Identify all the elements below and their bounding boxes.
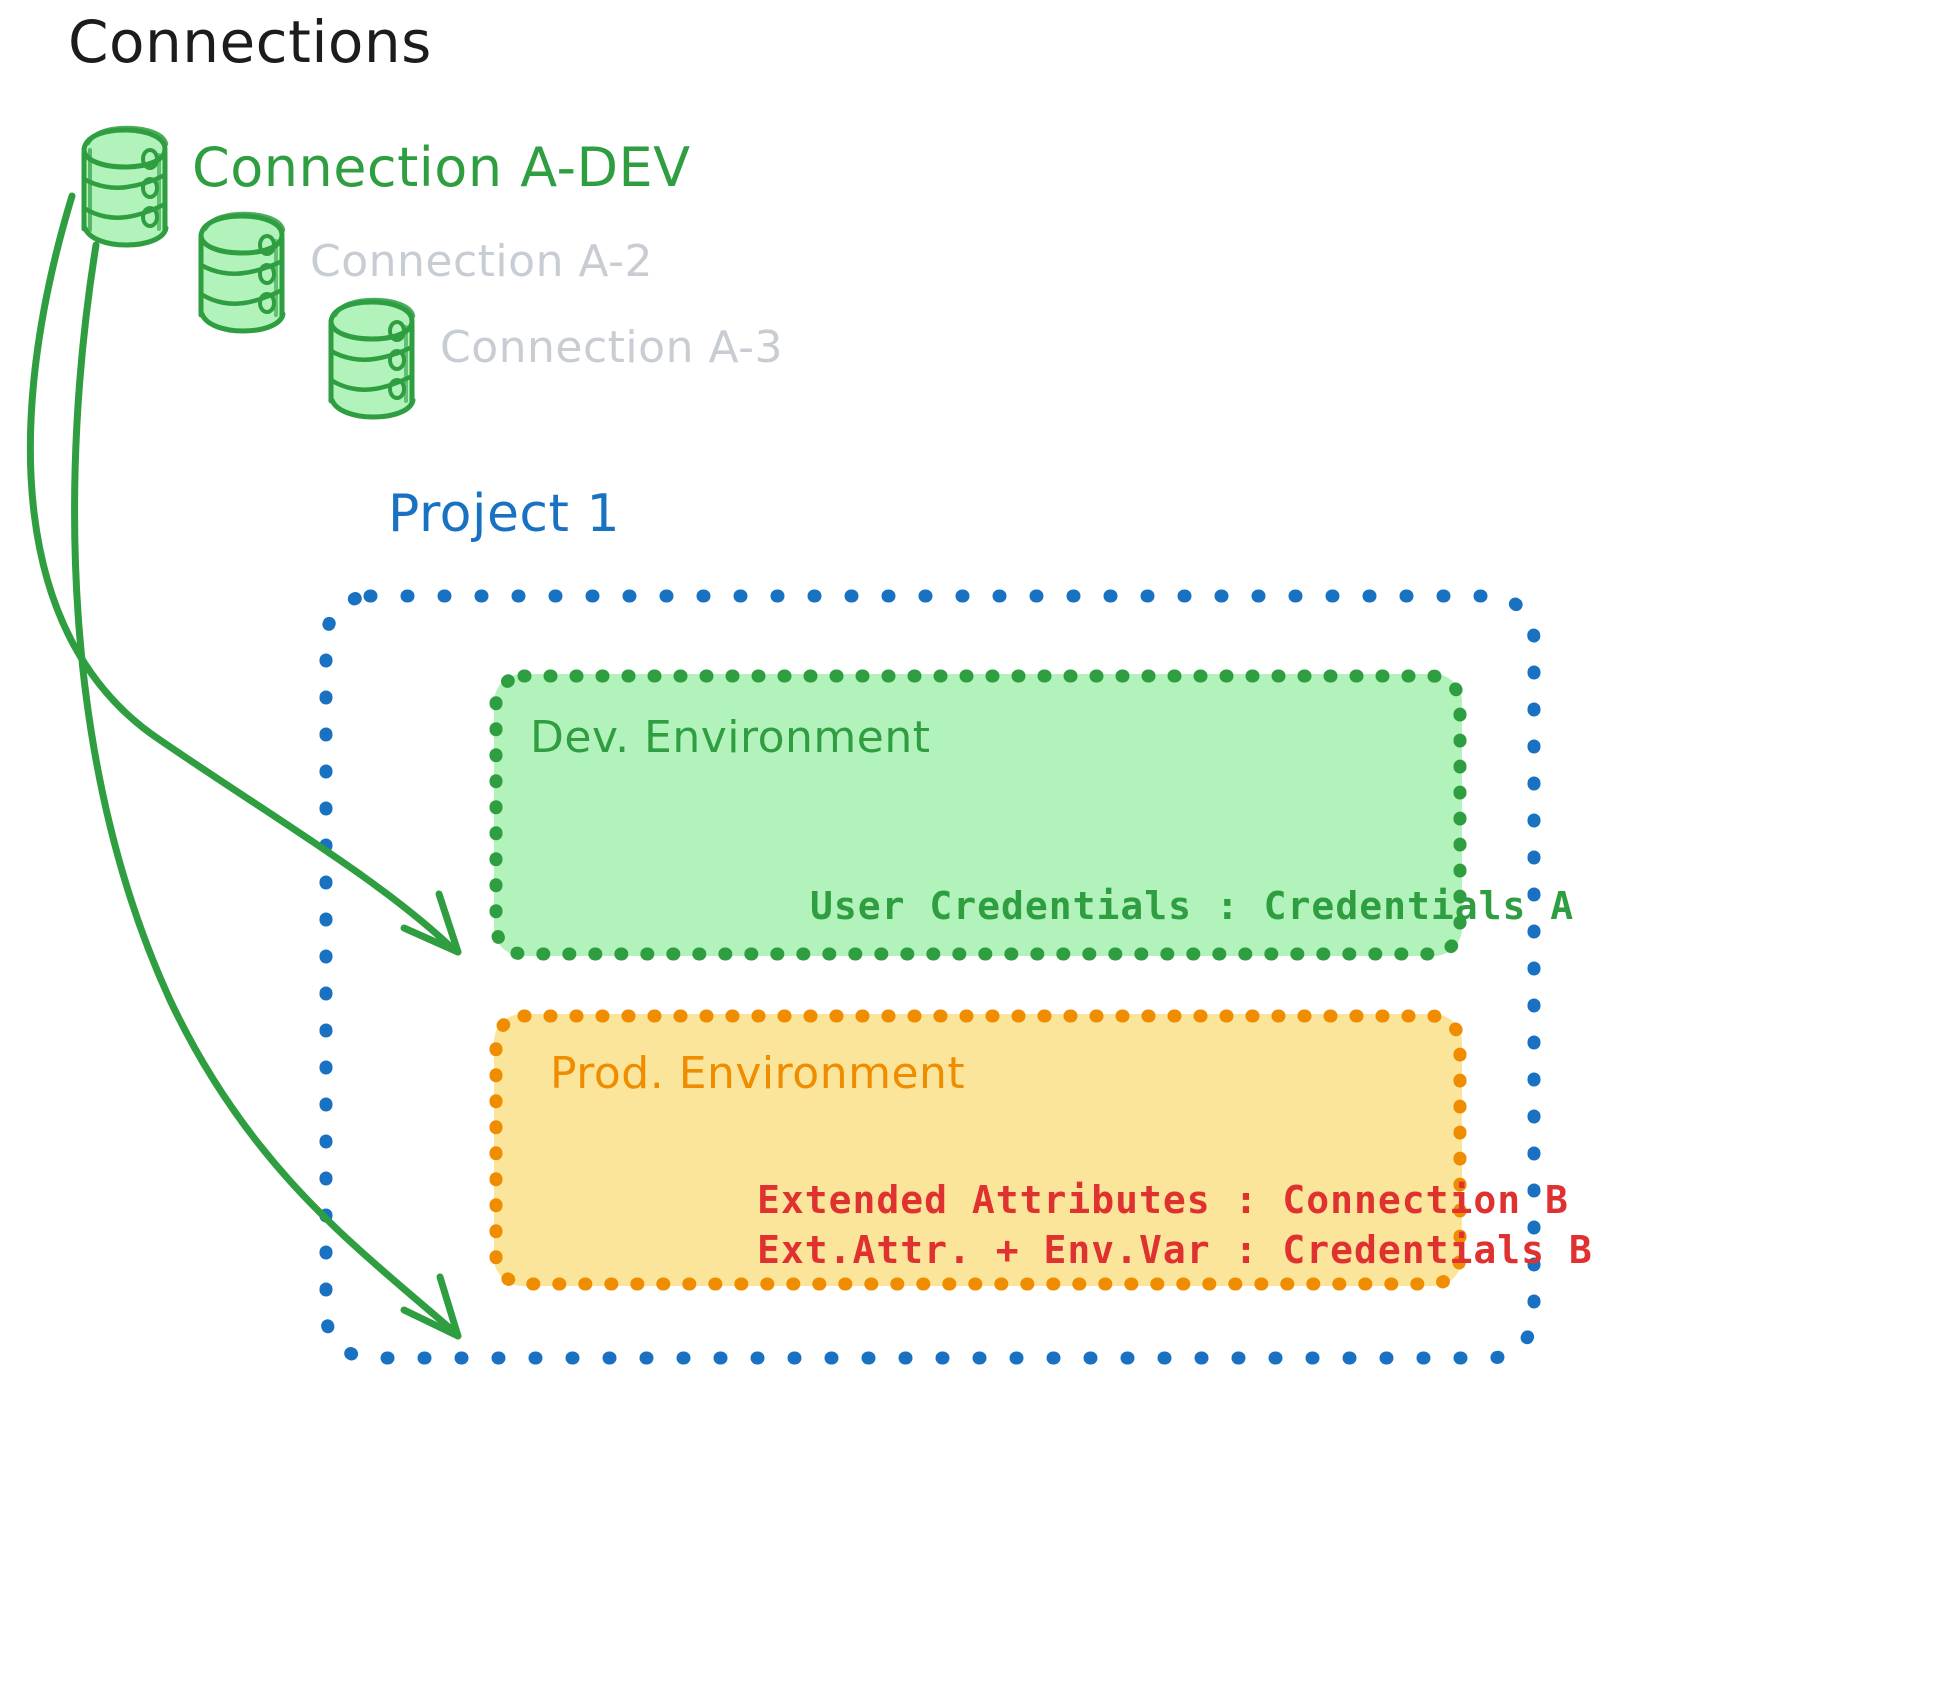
- arrow-conn-to-prod-environment: [75, 245, 458, 1336]
- page-title: Connections: [68, 8, 432, 76]
- connection-label-a-dev[interactable]: Connection A-DEV: [192, 136, 691, 199]
- database-cylinder-icon-2[interactable]: [201, 214, 283, 332]
- prod-extended-attributes-row: Extended Attributes : Connection B: [757, 1178, 1569, 1222]
- prod-ext-attr-env-var-row: Ext.Attr. + Env.Var : Credentials B: [757, 1228, 1593, 1272]
- project-title: Project 1: [388, 484, 620, 544]
- database-cylinder-icon-1[interactable]: [84, 128, 166, 246]
- dev-environment-title: Dev. Environment: [530, 712, 931, 763]
- connection-label-a-2[interactable]: Connection A-2: [310, 236, 653, 287]
- prod-environment-title: Prod. Environment: [550, 1048, 965, 1099]
- dev-user-credentials-row: User Credentials : Credentials A: [810, 884, 1574, 928]
- database-cylinder-icon-3[interactable]: [331, 300, 413, 418]
- diagram-canvas: Connections Connection A-DEV Connection …: [0, 0, 1938, 1691]
- connection-label-a-3[interactable]: Connection A-3: [440, 322, 783, 373]
- arrow-conn-to-dev-environment: [30, 196, 458, 952]
